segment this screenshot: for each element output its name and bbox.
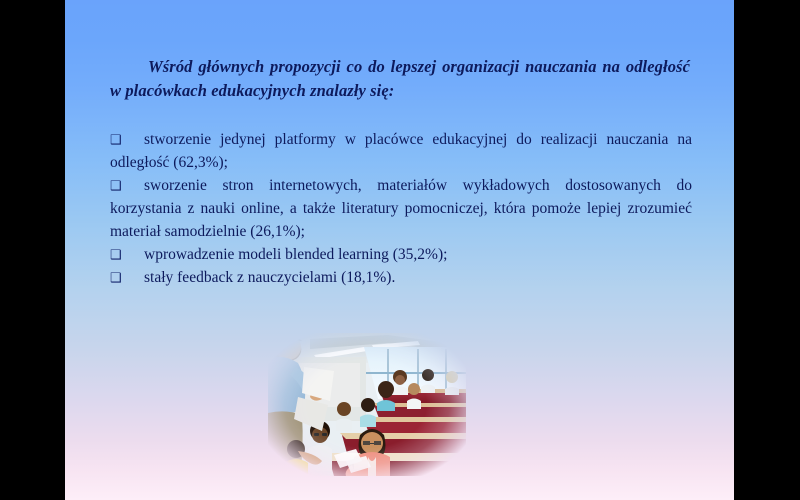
bullet-item-label: stworzenie jedynej platformy w placówce … — [110, 131, 692, 171]
presentation-slide-viewport: Wśród głównych propozycji co do lepszej … — [0, 0, 800, 500]
square-bullet-icon: ❑ — [110, 243, 144, 266]
bullet-item-platform: ❑stworzenie jedynej platformy w placówce… — [110, 128, 692, 174]
bullet-item-label: stały feedback z nauczycielami (18,1%). — [144, 269, 395, 286]
letterbox-bar-left — [0, 0, 65, 500]
bullet-item-websites: ❑sworzenie stron internetowych, materiał… — [110, 174, 692, 243]
square-bullet-icon: ❑ — [110, 128, 144, 151]
bullet-item-label: sworzenie stron internetowych, materiałó… — [110, 177, 692, 240]
bullet-item-blended-learning: ❑wprowadzenie modeli blended learning (3… — [110, 243, 692, 266]
slide-heading: Wśród głównych propozycji co do lepszej … — [110, 55, 690, 103]
bullet-item-feedback: ❑stały feedback z nauczycielami (18,1%). — [110, 266, 692, 289]
square-bullet-icon: ❑ — [110, 174, 144, 197]
square-bullet-icon: ❑ — [110, 266, 144, 289]
bullet-item-label: wprowadzenie modeli blended learning (35… — [144, 246, 447, 263]
slide-canvas: Wśród głównych propozycji co do lepszej … — [65, 0, 734, 500]
letterbox-bar-right — [734, 0, 800, 500]
bullet-list: ❑stworzenie jedynej platformy w placówce… — [110, 128, 692, 289]
lecture-hall-photo — [268, 333, 466, 476]
